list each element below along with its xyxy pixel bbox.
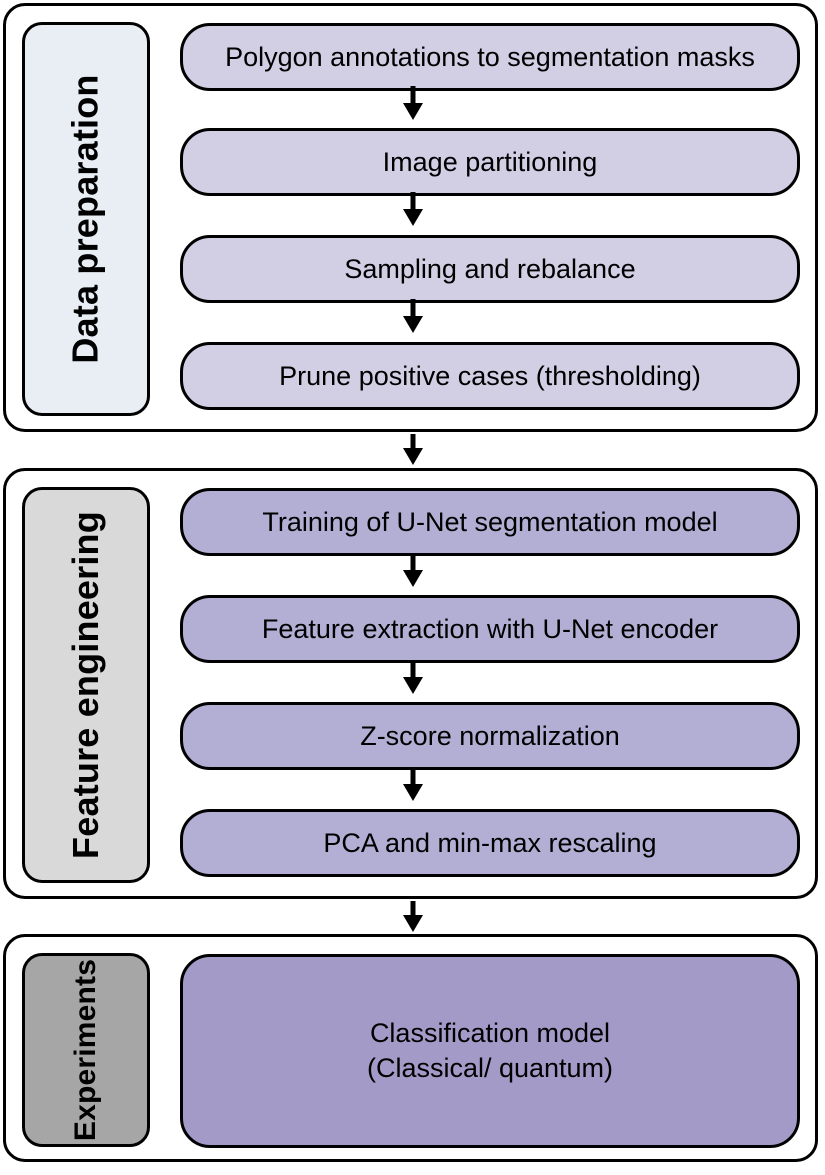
- step-label: Image partitioning: [383, 145, 598, 180]
- step-feature-extraction-unet-encoder[interactable]: Feature extraction with U-Net encoder: [180, 595, 800, 663]
- sidebar-feature-engineering: Feature engineering: [22, 487, 150, 883]
- section-data-preparation: Data preparation Polygon annotations to …: [3, 3, 818, 432]
- step-label: Training of U-Net segmentation model: [262, 505, 717, 540]
- step-prune-positive-cases[interactable]: Prune positive cases (thresholding): [180, 342, 800, 410]
- step-label: PCA and min-max rescaling: [323, 826, 656, 861]
- step-classification-model[interactable]: Classification model (Classical/ quantum…: [180, 954, 800, 1148]
- step-label: Polygon annotations to segmentation mask…: [225, 40, 755, 75]
- step-training-unet[interactable]: Training of U-Net segmentation model: [180, 488, 800, 556]
- step-polygon-annotations[interactable]: Polygon annotations to segmentation mask…: [180, 23, 800, 91]
- section-feature-engineering: Feature engineering Training of U-Net se…: [3, 468, 818, 899]
- step-label-line-2: (Classical/ quantum): [367, 1051, 613, 1086]
- sidebar-experiments: Experiments: [22, 953, 150, 1147]
- step-label: Prune positive cases (thresholding): [279, 359, 701, 394]
- step-label: Z-score normalization: [360, 719, 620, 754]
- step-label: Sampling and rebalance: [344, 252, 635, 287]
- sidebar-label-feature-engineering: Feature engineering: [68, 511, 104, 859]
- step-label-line-1: Classification model: [370, 1016, 610, 1051]
- sidebar-label-experiments: Experiments: [71, 959, 101, 1141]
- section-experiments: Experiments Classification model (Classi…: [3, 934, 818, 1162]
- step-sampling-and-rebalance[interactable]: Sampling and rebalance: [180, 235, 800, 303]
- sidebar-data-preparation: Data preparation: [22, 22, 150, 416]
- step-image-partitioning[interactable]: Image partitioning: [180, 128, 800, 196]
- connector-arrow-section2-to-section3: [0, 901, 825, 933]
- step-label: Feature extraction with U-Net encoder: [262, 612, 718, 647]
- pipeline-flowchart: Data preparation Polygon annotations to …: [0, 0, 825, 1175]
- sidebar-label-data-preparation: Data preparation: [68, 74, 104, 363]
- down-arrow-icon: [398, 901, 428, 933]
- down-arrow-icon: [398, 434, 428, 466]
- step-z-score-normalization[interactable]: Z-score normalization: [180, 702, 800, 770]
- step-pca-and-minmax-rescaling[interactable]: PCA and min-max rescaling: [180, 809, 800, 877]
- connector-arrow-section1-to-section2: [0, 434, 825, 466]
